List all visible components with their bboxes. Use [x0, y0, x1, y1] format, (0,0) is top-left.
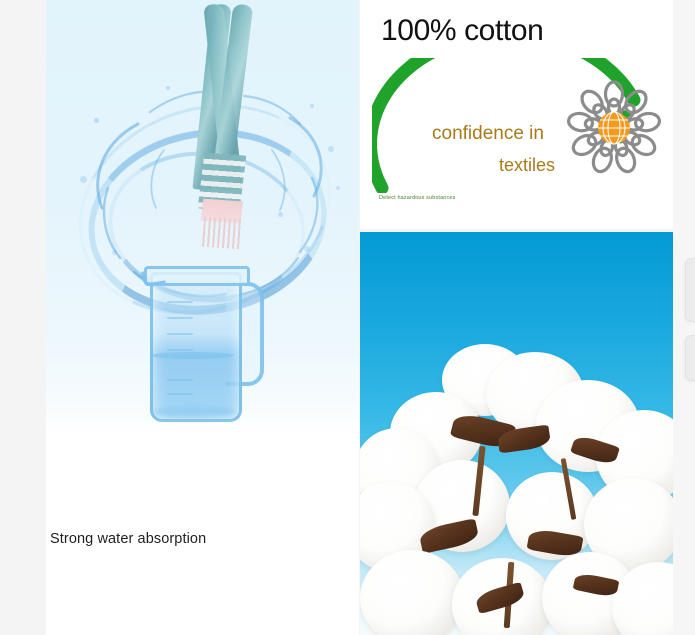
- page-canvas: Strong water absorption 100% cotton conf…: [0, 0, 695, 635]
- towel-strand: [211, 4, 254, 190]
- water-droplet: [310, 104, 314, 108]
- water-splash-ring-outer: [49, 70, 359, 349]
- towel-strand: [203, 4, 242, 190]
- certification-brand-line-2: textiles: [499, 155, 555, 176]
- pitcher-handle: [226, 282, 264, 386]
- cotton-boll: [360, 550, 464, 635]
- water-droplet: [80, 176, 87, 183]
- water-droplet: [278, 212, 283, 217]
- water-droplet: [304, 246, 310, 252]
- pitcher-measure-mark: [167, 301, 193, 303]
- right-content-column: 100% cotton confidence in textiles Detec…: [360, 0, 673, 635]
- edge-button-bottom[interactable]: [685, 335, 695, 381]
- water-absorption-hero-image[interactable]: [46, 0, 359, 437]
- edge-button-top[interactable]: [685, 258, 695, 322]
- towel-stripes: [198, 153, 247, 212]
- pitcher-base-shadow: [152, 406, 236, 418]
- pitcher-body: [150, 272, 242, 422]
- pitcher-rim: [144, 266, 250, 286]
- water-droplet: [94, 118, 99, 123]
- towel-strand: [192, 4, 231, 190]
- water-pitcher: [142, 262, 267, 422]
- water-splash-ring-mid: [75, 112, 340, 331]
- pitcher-water-line: [152, 352, 234, 359]
- water-absorption-caption: Strong water absorption: [50, 531, 206, 547]
- pitcher-measure-mark: [167, 317, 193, 319]
- left-gutter: [0, 0, 46, 635]
- water-droplet: [232, 70, 235, 73]
- towel-pink-band: [201, 199, 244, 224]
- certification-title: 100% cotton: [381, 14, 543, 48]
- pitcher-spout: [141, 268, 166, 286]
- water-splash-detail: [46, 0, 359, 437]
- towel-fringe: [202, 217, 244, 250]
- oeko-tex-globe: [598, 112, 630, 144]
- cotton-bolls-photo[interactable]: [360, 232, 673, 635]
- pitcher-measure-mark: [167, 393, 193, 395]
- certification-footnote: Detect hazardous substances: [379, 195, 456, 201]
- water-splash-ring-inner: [100, 141, 314, 314]
- pitcher-measure-mark: [167, 349, 193, 351]
- left-content-column: Strong water absorption: [46, 0, 359, 635]
- cotton-certification-panel[interactable]: 100% cotton confidence in textiles Detec…: [360, 0, 673, 229]
- pitcher-measure-mark: [167, 333, 193, 335]
- pitcher-measure-mark: [167, 379, 193, 381]
- water-droplet: [328, 146, 334, 152]
- left-caption-area: Strong water absorption: [46, 437, 359, 635]
- water-droplet: [166, 86, 170, 90]
- certification-brand-line-1: confidence in: [432, 123, 544, 145]
- water-droplet: [112, 250, 117, 255]
- water-droplet: [336, 186, 340, 190]
- twisted-towel: [198, 4, 244, 244]
- oeko-tex-flower-logo: [563, 77, 665, 179]
